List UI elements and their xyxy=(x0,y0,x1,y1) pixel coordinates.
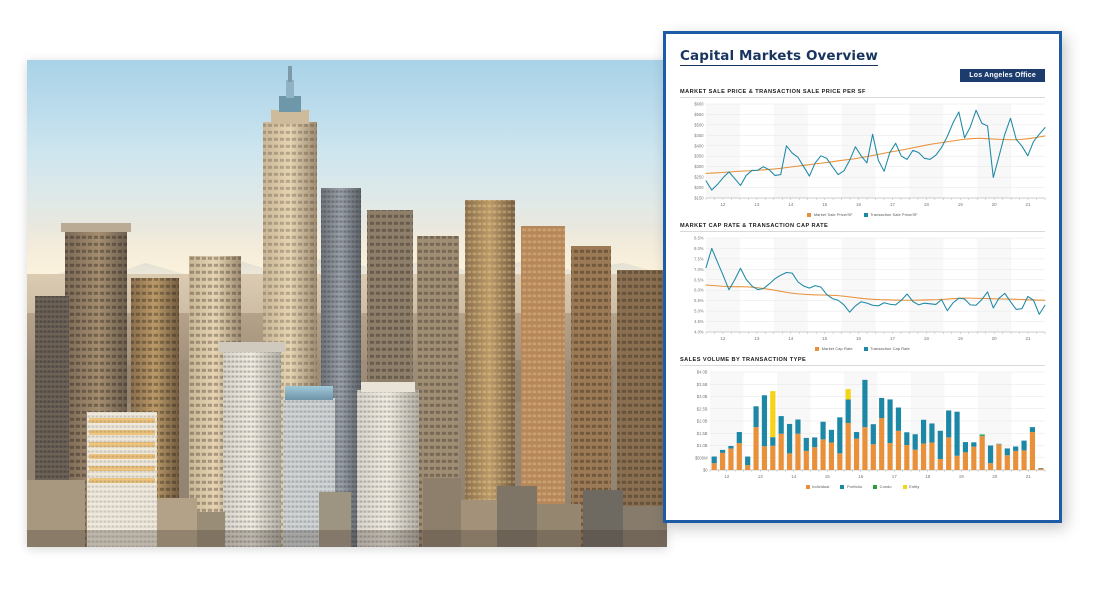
capital-markets-report-card: Capital Markets Overview Los Angeles Off… xyxy=(663,31,1062,523)
section-market-sale-price: MARKET SALE PRICE & TRANSACTION SALE PRI… xyxy=(680,89,1045,217)
svg-text:17: 17 xyxy=(890,202,896,207)
chart-sales-volume: $0$500M$1.0B$1.5B$2.0B$2.5B$3.0B$3.5B$4.… xyxy=(680,367,1045,483)
legend-item[interactable]: Market Cap Rate xyxy=(815,346,852,351)
svg-text:$500M: $500M xyxy=(695,455,708,460)
svg-text:$2.5B: $2.5B xyxy=(697,406,708,411)
svg-text:$200: $200 xyxy=(694,185,704,190)
svg-text:13: 13 xyxy=(754,336,760,341)
legend-swatch-icon xyxy=(840,485,844,489)
svg-text:12: 12 xyxy=(724,474,730,479)
svg-text:$400: $400 xyxy=(694,143,704,148)
legend-label: Entity xyxy=(909,484,919,489)
svg-text:15: 15 xyxy=(822,202,828,207)
svg-text:$3.5B: $3.5B xyxy=(697,382,708,387)
svg-text:14: 14 xyxy=(788,336,794,341)
section-sales-volume: SALES VOLUME BY TRANSACTION TYPE $0$500M… xyxy=(680,357,1045,489)
svg-text:$450: $450 xyxy=(694,133,704,138)
legend-swatch-icon xyxy=(873,485,877,489)
legend-label: Market Cap Rate xyxy=(822,346,853,351)
chart-cap-rate: 4.0%4.5%5.0%5.5%6.0%6.5%7.0%7.5%8.0%8.5%… xyxy=(680,233,1045,345)
svg-text:21: 21 xyxy=(1025,336,1031,341)
svg-text:$1.0B: $1.0B xyxy=(697,443,708,448)
section-cap-rate: MARKET CAP RATE & TRANSACTION CAP RATE 4… xyxy=(680,223,1045,351)
svg-text:20: 20 xyxy=(992,202,998,207)
photo-buildings xyxy=(27,60,667,547)
svg-text:5.0%: 5.0% xyxy=(694,309,704,314)
svg-text:18: 18 xyxy=(924,202,930,207)
svg-text:$0: $0 xyxy=(703,468,708,473)
svg-text:21: 21 xyxy=(1026,474,1032,479)
section-title-cap-rate: MARKET CAP RATE & TRANSACTION CAP RATE xyxy=(680,223,1045,232)
legend-swatch-icon xyxy=(815,347,819,351)
svg-text:$250: $250 xyxy=(694,175,704,180)
legend-label: Condo xyxy=(880,484,892,489)
svg-text:14: 14 xyxy=(791,474,797,479)
legend-label: Transaction Cap Rate xyxy=(870,346,910,351)
svg-text:12: 12 xyxy=(720,336,726,341)
legend-swatch-icon xyxy=(806,485,810,489)
svg-text:$1.5B: $1.5B xyxy=(697,431,708,436)
legend-item[interactable]: Transaction Cap Rate xyxy=(864,346,910,351)
svg-text:14: 14 xyxy=(788,202,794,207)
svg-text:$350: $350 xyxy=(694,154,704,159)
legend-item[interactable]: Individual xyxy=(806,484,830,489)
section-title-sale-price: MARKET SALE PRICE & TRANSACTION SALE PRI… xyxy=(680,89,1045,98)
legend-item[interactable]: Entity xyxy=(903,484,920,489)
legend-sale-price: Market Sale Price/SFTransaction Sale Pri… xyxy=(680,212,1045,217)
svg-text:15: 15 xyxy=(822,336,828,341)
svg-text:21: 21 xyxy=(1025,202,1031,207)
svg-text:19: 19 xyxy=(958,336,964,341)
legend-label: Transaction Sale Price/SF xyxy=(870,212,918,217)
svg-text:17: 17 xyxy=(892,474,898,479)
svg-text:6.5%: 6.5% xyxy=(694,277,704,282)
svg-text:13: 13 xyxy=(754,202,760,207)
legend-item[interactable]: Market Sale Price/SF xyxy=(807,212,852,217)
svg-text:15: 15 xyxy=(825,474,831,479)
svg-text:6.0%: 6.0% xyxy=(694,288,704,293)
los-angeles-skyline-photo xyxy=(27,60,667,547)
svg-text:20: 20 xyxy=(992,474,998,479)
svg-text:$500: $500 xyxy=(694,122,704,127)
svg-text:8.5%: 8.5% xyxy=(694,236,704,241)
svg-text:4.5%: 4.5% xyxy=(694,319,704,324)
svg-text:$300: $300 xyxy=(694,164,704,169)
svg-text:8.0%: 8.0% xyxy=(694,246,704,251)
legend-item[interactable]: Condo xyxy=(873,484,891,489)
svg-text:$600: $600 xyxy=(694,102,704,107)
legend-sales-volume: IndividualPortfolioCondoEntity xyxy=(680,484,1045,489)
legend-label: Individual xyxy=(812,484,829,489)
legend-swatch-icon xyxy=(864,213,868,217)
legend-label: Market Sale Price/SF xyxy=(814,212,853,217)
svg-text:$550: $550 xyxy=(694,112,704,117)
svg-text:16: 16 xyxy=(858,474,864,479)
svg-text:$2.0B: $2.0B xyxy=(697,419,708,424)
svg-text:19: 19 xyxy=(958,202,964,207)
legend-item[interactable]: Transaction Sale Price/SF xyxy=(864,212,918,217)
svg-text:12: 12 xyxy=(720,202,726,207)
status-badge: Los Angeles Office xyxy=(960,69,1045,82)
screenshot-root: Capital Markets Overview Los Angeles Off… xyxy=(0,0,1100,600)
svg-text:16: 16 xyxy=(856,336,862,341)
svg-text:17: 17 xyxy=(890,336,896,341)
svg-text:16: 16 xyxy=(856,202,862,207)
svg-text:5.5%: 5.5% xyxy=(694,298,704,303)
legend-swatch-icon xyxy=(864,347,868,351)
legend-swatch-icon xyxy=(807,213,811,217)
chart-market-sale-price: $150$200$250$300$350$400$450$500$550$600… xyxy=(680,99,1045,211)
svg-text:13: 13 xyxy=(758,474,764,479)
svg-text:18: 18 xyxy=(925,474,931,479)
office-badge-row: Los Angeles Office xyxy=(680,69,1045,83)
svg-text:19: 19 xyxy=(959,474,965,479)
svg-text:7.5%: 7.5% xyxy=(694,256,704,261)
page-title: Capital Markets Overview xyxy=(680,48,878,66)
svg-text:$150: $150 xyxy=(694,196,704,201)
svg-text:20: 20 xyxy=(992,336,998,341)
legend-cap-rate: Market Cap RateTransaction Cap Rate xyxy=(680,346,1045,351)
svg-text:7.0%: 7.0% xyxy=(694,267,704,272)
svg-text:$3.0B: $3.0B xyxy=(697,394,708,399)
svg-text:4.0%: 4.0% xyxy=(694,330,704,335)
section-title-sales-volume: SALES VOLUME BY TRANSACTION TYPE xyxy=(680,357,1045,366)
svg-text:$4.0B: $4.0B xyxy=(697,370,708,375)
legend-label: Portfolio xyxy=(847,484,862,489)
legend-swatch-icon xyxy=(903,485,907,489)
svg-text:18: 18 xyxy=(924,336,930,341)
legend-item[interactable]: Portfolio xyxy=(840,484,862,489)
